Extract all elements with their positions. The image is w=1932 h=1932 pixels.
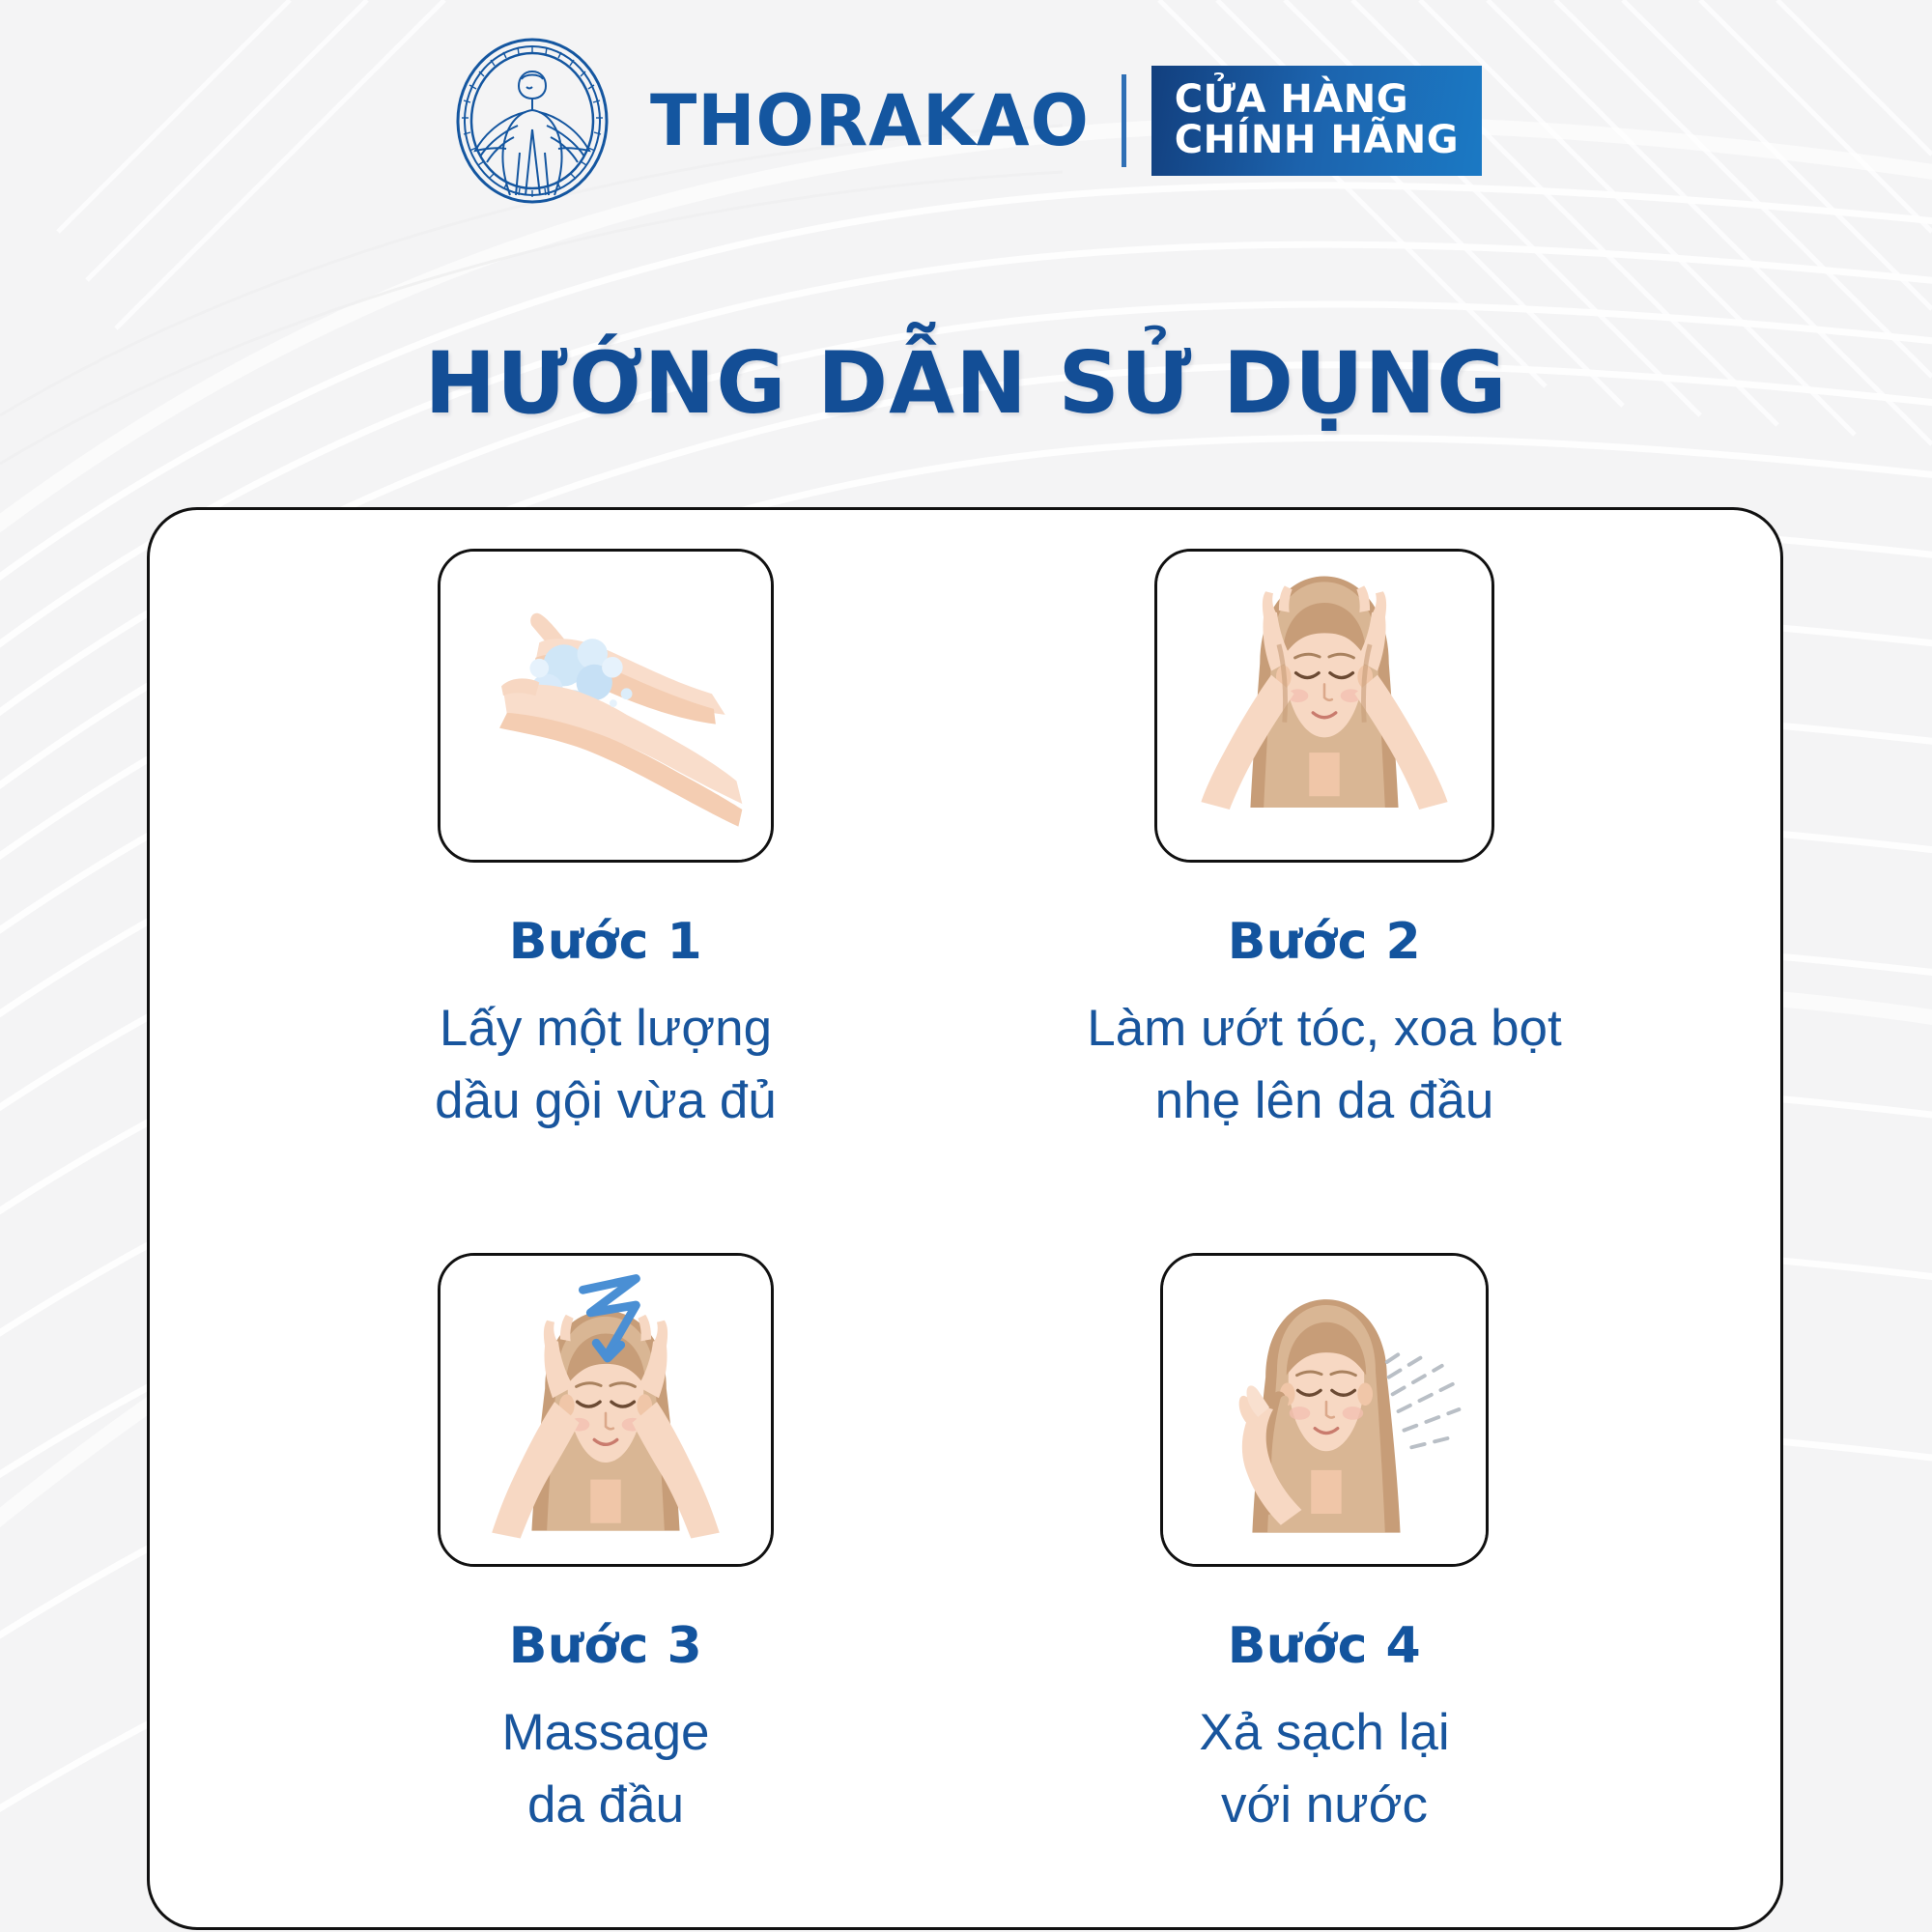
step-4-description: Xả sạch lại với nước xyxy=(1199,1696,1449,1842)
badge-line-2: CHÍNH HÃNG xyxy=(1175,120,1459,160)
steps-grid: Bước 1 Lấy một lượng dầu gội vừa đủ xyxy=(150,510,1780,1927)
step-3-desc-line-2: da đầu xyxy=(501,1769,709,1841)
brand-lockup: THORAKAO CỬA HÀNG CHÍNH HÃNG xyxy=(643,66,1482,177)
woman-wetting-hair-icon xyxy=(1157,552,1492,860)
step-item-4: Bước 4 Xả sạch lại với nước xyxy=(965,1236,1684,1927)
brand-name: THORAKAO xyxy=(650,86,1090,156)
step-item-2: Bước 2 Làm ướt tóc, xoa bọt nhẹ lên da đ… xyxy=(965,544,1684,1236)
page-title: HƯỚNG DẪN SỬ DỤNG xyxy=(0,333,1932,433)
step-2-description: Làm ướt tóc, xoa bọt nhẹ lên da đầu xyxy=(1087,992,1562,1138)
badge-line-1: CỬA HÀNG xyxy=(1175,79,1459,120)
brand-divider xyxy=(1122,74,1126,167)
step-3-illustration-card xyxy=(438,1253,774,1567)
step-1-description: Lấy một lượng dầu gội vừa đủ xyxy=(435,992,777,1138)
step-2-label: Bước 2 xyxy=(1228,913,1422,971)
instructions-panel: Bước 1 Lấy một lượng dầu gội vừa đủ xyxy=(147,507,1783,1930)
woman-rinsing-hair-icon xyxy=(1163,1256,1486,1564)
angel-seal-logo-icon xyxy=(450,37,614,206)
hand-with-foam-icon xyxy=(440,552,771,860)
step-1-label: Bước 1 xyxy=(509,913,703,971)
step-1-illustration-card xyxy=(438,549,774,863)
step-2-desc-line-1: Làm ướt tóc, xoa bọt xyxy=(1087,992,1562,1065)
brand-header: THORAKAO CỬA HÀNG CHÍNH HÃNG xyxy=(0,39,1932,203)
step-3-desc-line-1: Massage xyxy=(501,1696,709,1769)
step-3-label: Bước 3 xyxy=(509,1617,703,1675)
step-4-label: Bước 4 xyxy=(1228,1617,1422,1675)
step-3-description: Massage da đầu xyxy=(501,1696,709,1842)
step-2-desc-line-2: nhẹ lên da đầu xyxy=(1087,1065,1562,1137)
step-4-desc-line-2: với nước xyxy=(1199,1769,1449,1841)
step-2-illustration-card xyxy=(1154,549,1494,863)
step-1-desc-line-2: dầu gội vừa đủ xyxy=(435,1065,777,1137)
step-item-3: Bước 3 Massage da đầu xyxy=(246,1236,965,1927)
step-4-illustration-card xyxy=(1160,1253,1489,1567)
official-store-badge: CỬA HÀNG CHÍNH HÃNG xyxy=(1151,66,1482,177)
woman-massaging-scalp-icon xyxy=(440,1256,771,1564)
step-item-1: Bước 1 Lấy một lượng dầu gội vừa đủ xyxy=(246,544,965,1236)
step-1-desc-line-1: Lấy một lượng xyxy=(435,992,777,1065)
step-4-desc-line-1: Xả sạch lại xyxy=(1199,1696,1449,1769)
